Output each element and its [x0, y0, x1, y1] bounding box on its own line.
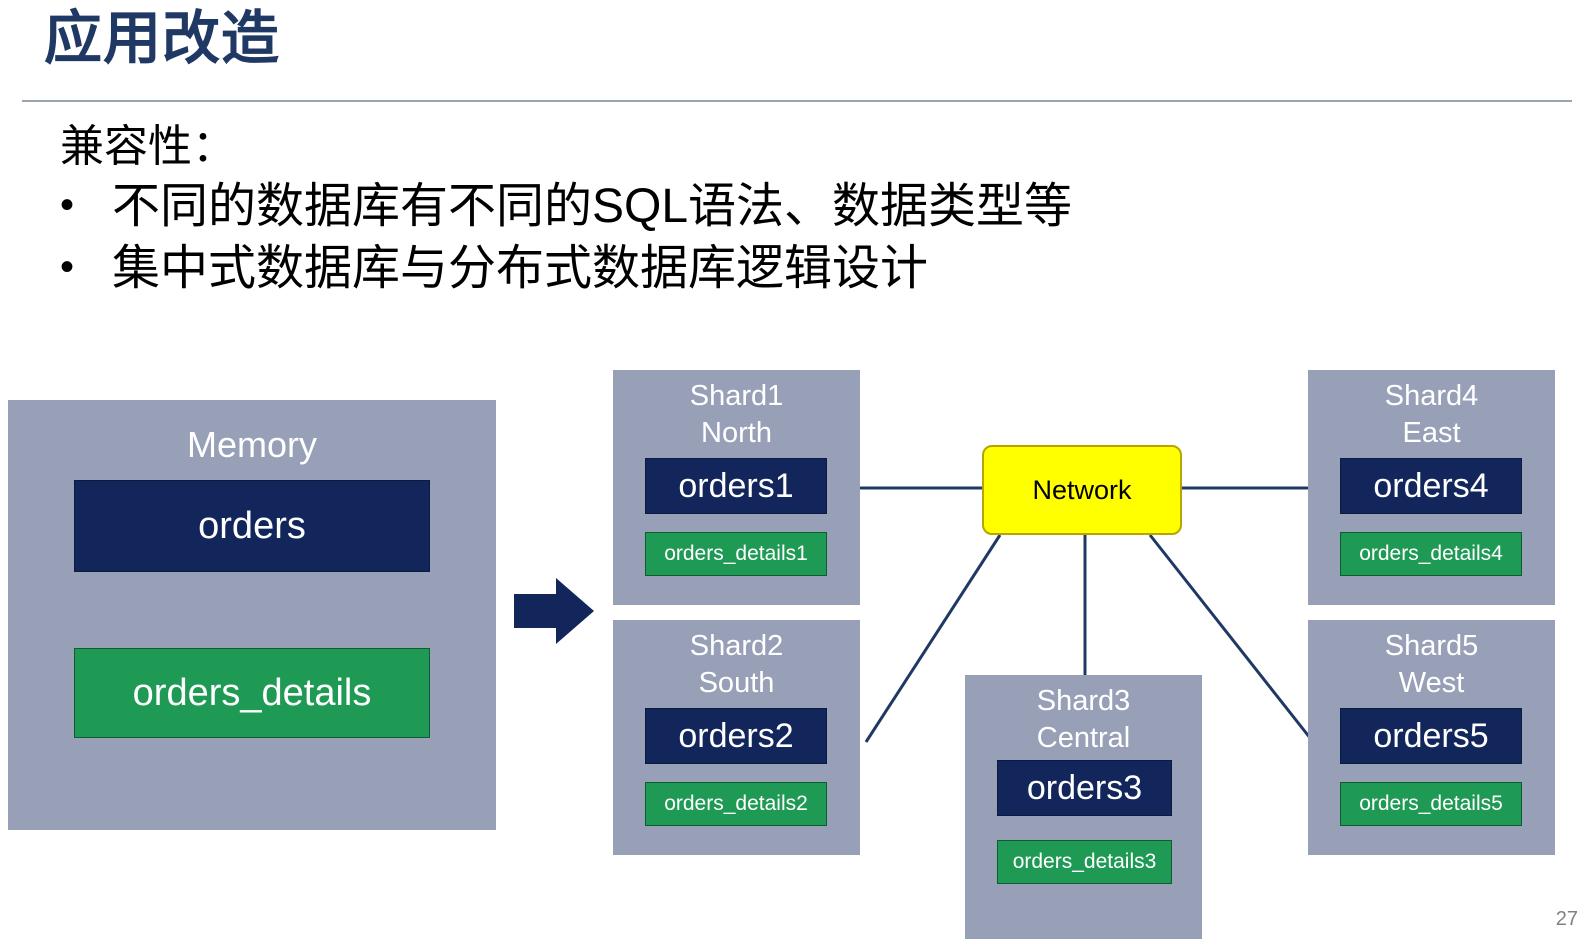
shard2-table-orders2: orders2 — [645, 708, 827, 764]
bullet-marker-icon: • — [60, 176, 112, 234]
body-text-block: 兼容性： • 不同的数据库有不同的SQL语法、数据类型等 • 集中式数据库与分布… — [60, 118, 1072, 299]
shard2-table-orders-details2: orders_details2 — [645, 782, 827, 826]
title-divider — [22, 100, 1572, 102]
architecture-diagram: Memory orders orders_details Shard1 Nort… — [0, 360, 1594, 939]
shard1-panel-label: Shard1 North — [613, 370, 860, 452]
shard4-panel-label: Shard4 East — [1308, 370, 1555, 452]
network-node: Network — [982, 445, 1182, 535]
shard3-panel-label: Shard3 Central — [965, 675, 1202, 757]
shard4-table-orders4: orders4 — [1340, 458, 1522, 514]
shard5-panel-label: Shard5 West — [1308, 620, 1555, 702]
shard3-table-orders3: orders3 — [997, 760, 1172, 816]
memory-panel-label: Memory — [8, 400, 496, 468]
right-arrow-icon — [514, 576, 594, 646]
body-heading: 兼容性： — [60, 118, 1072, 176]
page-title: 应用改造 — [44, 6, 280, 73]
shard1-table-orders1: orders1 — [645, 458, 827, 514]
bullet-marker-icon: • — [60, 238, 112, 296]
shard5-table-orders-details5: orders_details5 — [1340, 782, 1522, 826]
shard2-panel-label: Shard2 South — [613, 620, 860, 702]
bullet-text-2: 集中式数据库与分布式数据库逻辑设计 — [112, 238, 928, 299]
memory-table-orders: orders — [74, 480, 430, 572]
memory-table-orders-details: orders_details — [74, 648, 430, 738]
page-number: 27 — [1556, 908, 1578, 931]
shard3-table-orders-details3: orders_details3 — [997, 840, 1172, 884]
shard5-table-orders5: orders5 — [1340, 708, 1522, 764]
bullet-item-1: • 不同的数据库有不同的SQL语法、数据类型等 — [60, 176, 1072, 237]
shard1-table-orders-details1: orders_details1 — [645, 532, 827, 576]
shard4-table-orders-details4: orders_details4 — [1340, 532, 1522, 576]
bullet-text-1: 不同的数据库有不同的SQL语法、数据类型等 — [112, 176, 1072, 237]
memory-panel: Memory — [8, 400, 496, 830]
bullet-item-2: • 集中式数据库与分布式数据库逻辑设计 — [60, 238, 1072, 299]
